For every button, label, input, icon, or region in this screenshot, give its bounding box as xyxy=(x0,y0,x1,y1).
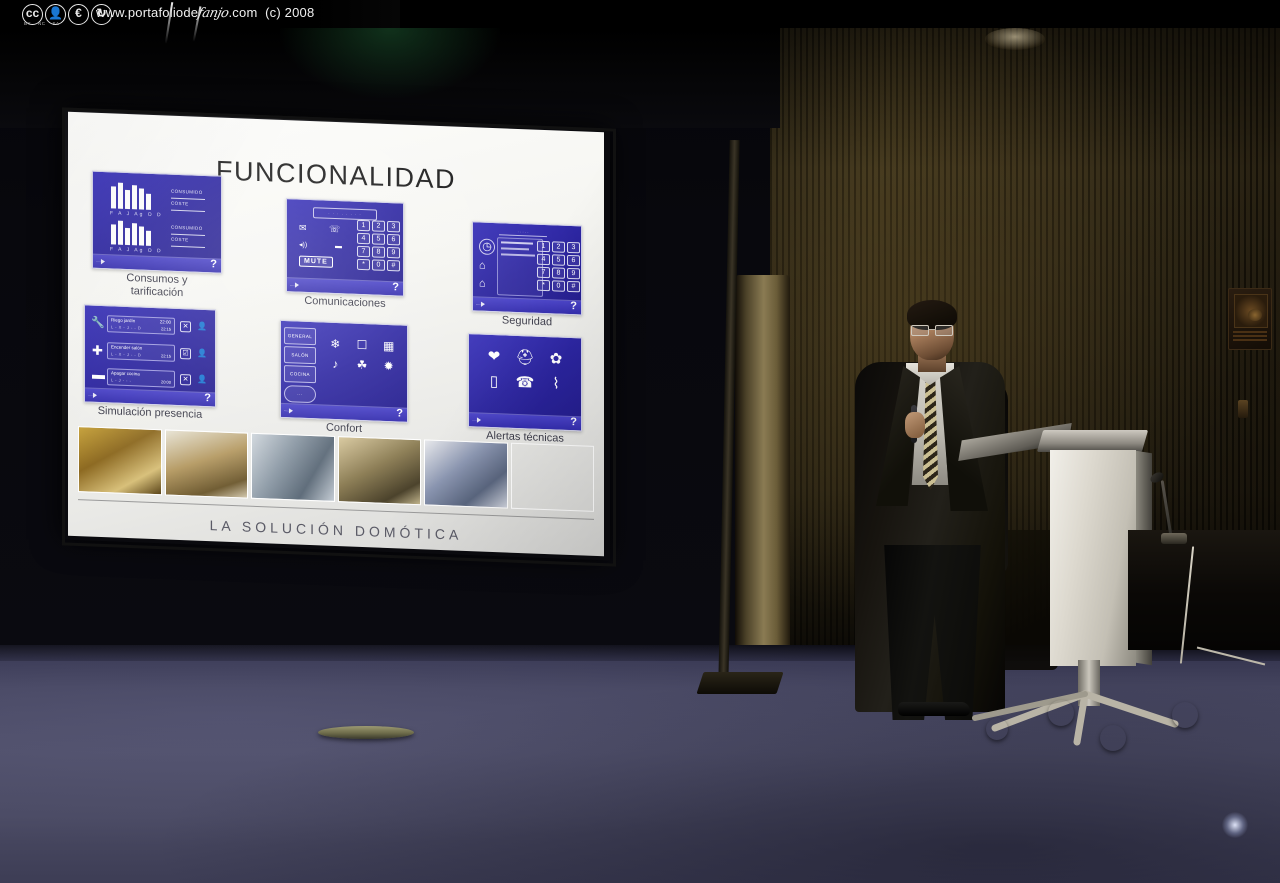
cc-badge-labels: BY NC SA xyxy=(24,21,60,26)
stage-pillar xyxy=(735,275,790,670)
watermark-url: www.portafoliodefanjo.com (c) 2008 xyxy=(96,5,314,21)
speaker-striped-tie xyxy=(923,378,938,490)
watermark-url-tail: .com xyxy=(229,5,258,20)
cc-label-sa: SA xyxy=(53,21,60,26)
screen-border xyxy=(62,107,616,566)
speaker-shoes xyxy=(898,702,970,716)
cc-label-nc: NC xyxy=(38,21,46,26)
floor-socket-plate xyxy=(318,726,414,739)
watermark-bar: cc 👤 € ↻ BY NC SA www.portafoliodefanjo.… xyxy=(0,0,1280,28)
door-handle xyxy=(1238,400,1248,418)
podium-caster xyxy=(1048,700,1074,726)
sign-graphic xyxy=(1234,294,1268,328)
ceiling-light xyxy=(985,28,1045,50)
watermark-signature: fanjo xyxy=(197,6,230,21)
sign-icon xyxy=(1248,309,1262,321)
speaker-hand xyxy=(905,412,925,438)
microphone-base xyxy=(1161,533,1187,544)
podium-caster xyxy=(1100,725,1126,751)
cc-nc-icon: € xyxy=(68,4,89,25)
screen-foot xyxy=(696,672,783,694)
wall-sign xyxy=(1228,288,1272,350)
podium-front-panel: PARC CIENTÍFIC Universitat de València xyxy=(1050,450,1136,666)
cc-label-by: BY xyxy=(24,21,31,26)
watermark-copyright: (c) 2008 xyxy=(265,5,314,20)
glasses-icon xyxy=(911,325,953,334)
presentation-photo: FUNCIONALIDAD F A J Ag O D CONSUMIDO COS… xyxy=(0,0,1280,883)
green-ceiling-glow xyxy=(280,28,500,98)
podium-top xyxy=(1037,430,1148,452)
podium-caster xyxy=(1172,702,1198,728)
floor-light-reflection xyxy=(1222,812,1248,838)
podium-caster xyxy=(986,718,1008,740)
watermark-url-head: www.portafoliode xyxy=(96,5,198,20)
sign-text-lines xyxy=(1233,331,1267,343)
